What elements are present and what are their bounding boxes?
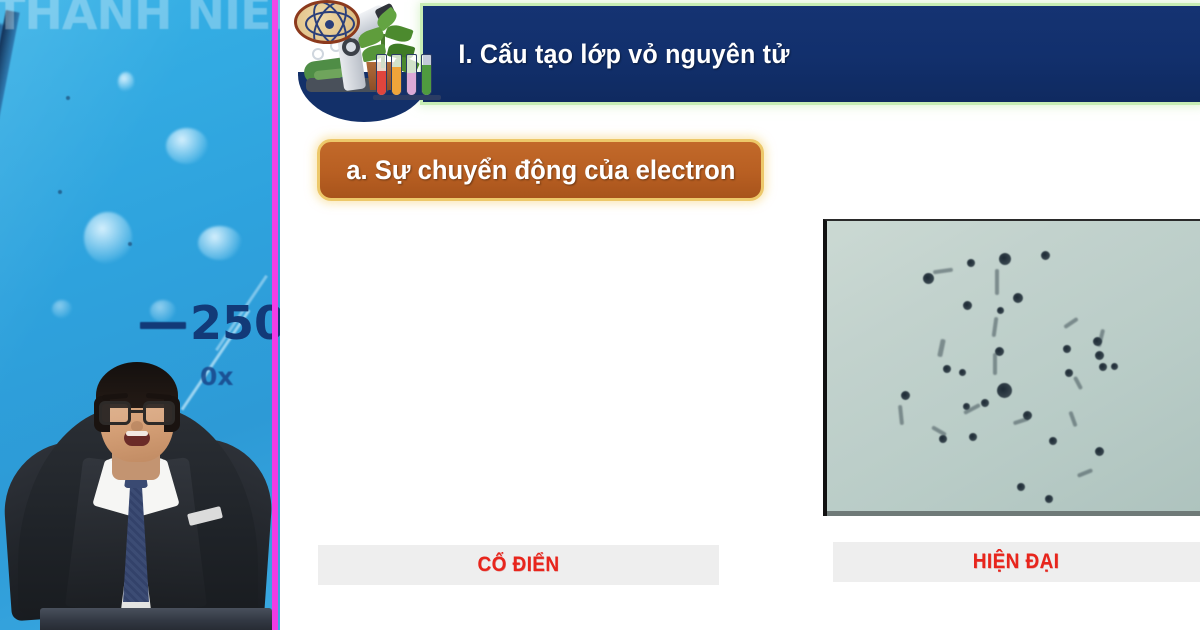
photo-streak (933, 268, 953, 275)
bubble-deco (312, 48, 324, 60)
photo-dot (1049, 437, 1057, 445)
test-tube (391, 54, 402, 96)
panel-label-text: HIỆN ĐẠI (973, 550, 1060, 574)
subsection-title: a. Sự chuyển động của electron (346, 155, 735, 186)
desk (40, 608, 272, 630)
photo-dot (923, 273, 934, 284)
photo-dot (1013, 293, 1023, 303)
photo-dot (967, 259, 975, 267)
video-pane-border (272, 0, 278, 630)
photo-dot (981, 399, 989, 407)
test-tube (421, 54, 432, 96)
photo-streak (937, 339, 946, 358)
screenshot-root: 250 0x THANH NIÊN (0, 0, 1200, 630)
nose (131, 421, 143, 431)
photo-dot (997, 307, 1004, 314)
speck (66, 96, 70, 100)
test-tube (406, 54, 417, 96)
photo-streak (992, 317, 999, 337)
cell-blob (198, 226, 242, 260)
panel-label-classical: CỔ ĐIỂN (318, 545, 719, 585)
cell-blob (84, 212, 132, 264)
photo-dot (999, 253, 1011, 265)
photo-streak (1073, 376, 1083, 390)
page-title: I. Cấu tạo lớp vỏ nguyên tử (423, 39, 790, 70)
glasses-bridge (131, 410, 143, 413)
test-tube-rack (373, 95, 441, 100)
photo-dot (943, 365, 951, 373)
photo-dot (1099, 363, 1107, 371)
photo-dot (1063, 345, 1071, 353)
scale-bar (140, 322, 186, 329)
photo-dot (959, 369, 966, 376)
lens-left (99, 401, 131, 425)
test-tube (376, 54, 387, 96)
photo-streak (993, 353, 997, 375)
atom-nucleus (325, 20, 334, 29)
photo-streak (898, 405, 904, 425)
lens-right (143, 401, 175, 425)
science-microscope-icon (290, 0, 438, 122)
photo-dot (969, 433, 977, 441)
photo-dot (1041, 251, 1050, 260)
photo-dot (1095, 447, 1104, 456)
photo-streak (995, 269, 999, 295)
panel-label-text: CỔ ĐIỂN (478, 553, 560, 577)
channel-watermark: THANH NIÊN (0, 0, 280, 34)
cell-blob (52, 300, 72, 318)
atom-icon (294, 0, 360, 44)
teeth (126, 431, 148, 436)
presenter-video-pane[interactable]: 250 0x THANH NIÊN (0, 0, 280, 630)
speck (128, 242, 132, 246)
photo-dot (1095, 351, 1104, 360)
photo-dot (963, 301, 972, 310)
test-tubes-icon (376, 52, 438, 96)
slide-area: I. Cấu tạo lớp vỏ nguyên tử (280, 0, 1200, 630)
section-title-bar: I. Cấu tạo lớp vỏ nguyên tử (423, 6, 1200, 102)
photo-streak (1063, 317, 1079, 329)
photo-streak (931, 425, 947, 436)
photo-dot (1111, 363, 1118, 370)
photo-dot (1045, 495, 1053, 503)
photo-dot (1017, 483, 1025, 491)
cell-blob (118, 72, 134, 92)
subsection-title-box: a. Sự chuyển động của electron (317, 139, 764, 201)
electron-cloud-photo (823, 219, 1200, 516)
photo-streak (1097, 329, 1105, 347)
photo-streak (1068, 411, 1077, 427)
cell-blob (166, 128, 208, 164)
speck (58, 190, 62, 194)
cell-blob (150, 300, 176, 322)
panel-label-modern: HIỆN ĐẠI (833, 542, 1200, 582)
photo-dot (1065, 369, 1073, 377)
photo-streak (1077, 468, 1093, 478)
photo-dot (997, 383, 1012, 398)
photo-dot (901, 391, 910, 400)
presenter-figure (0, 330, 272, 630)
photo-streak (1013, 417, 1029, 426)
